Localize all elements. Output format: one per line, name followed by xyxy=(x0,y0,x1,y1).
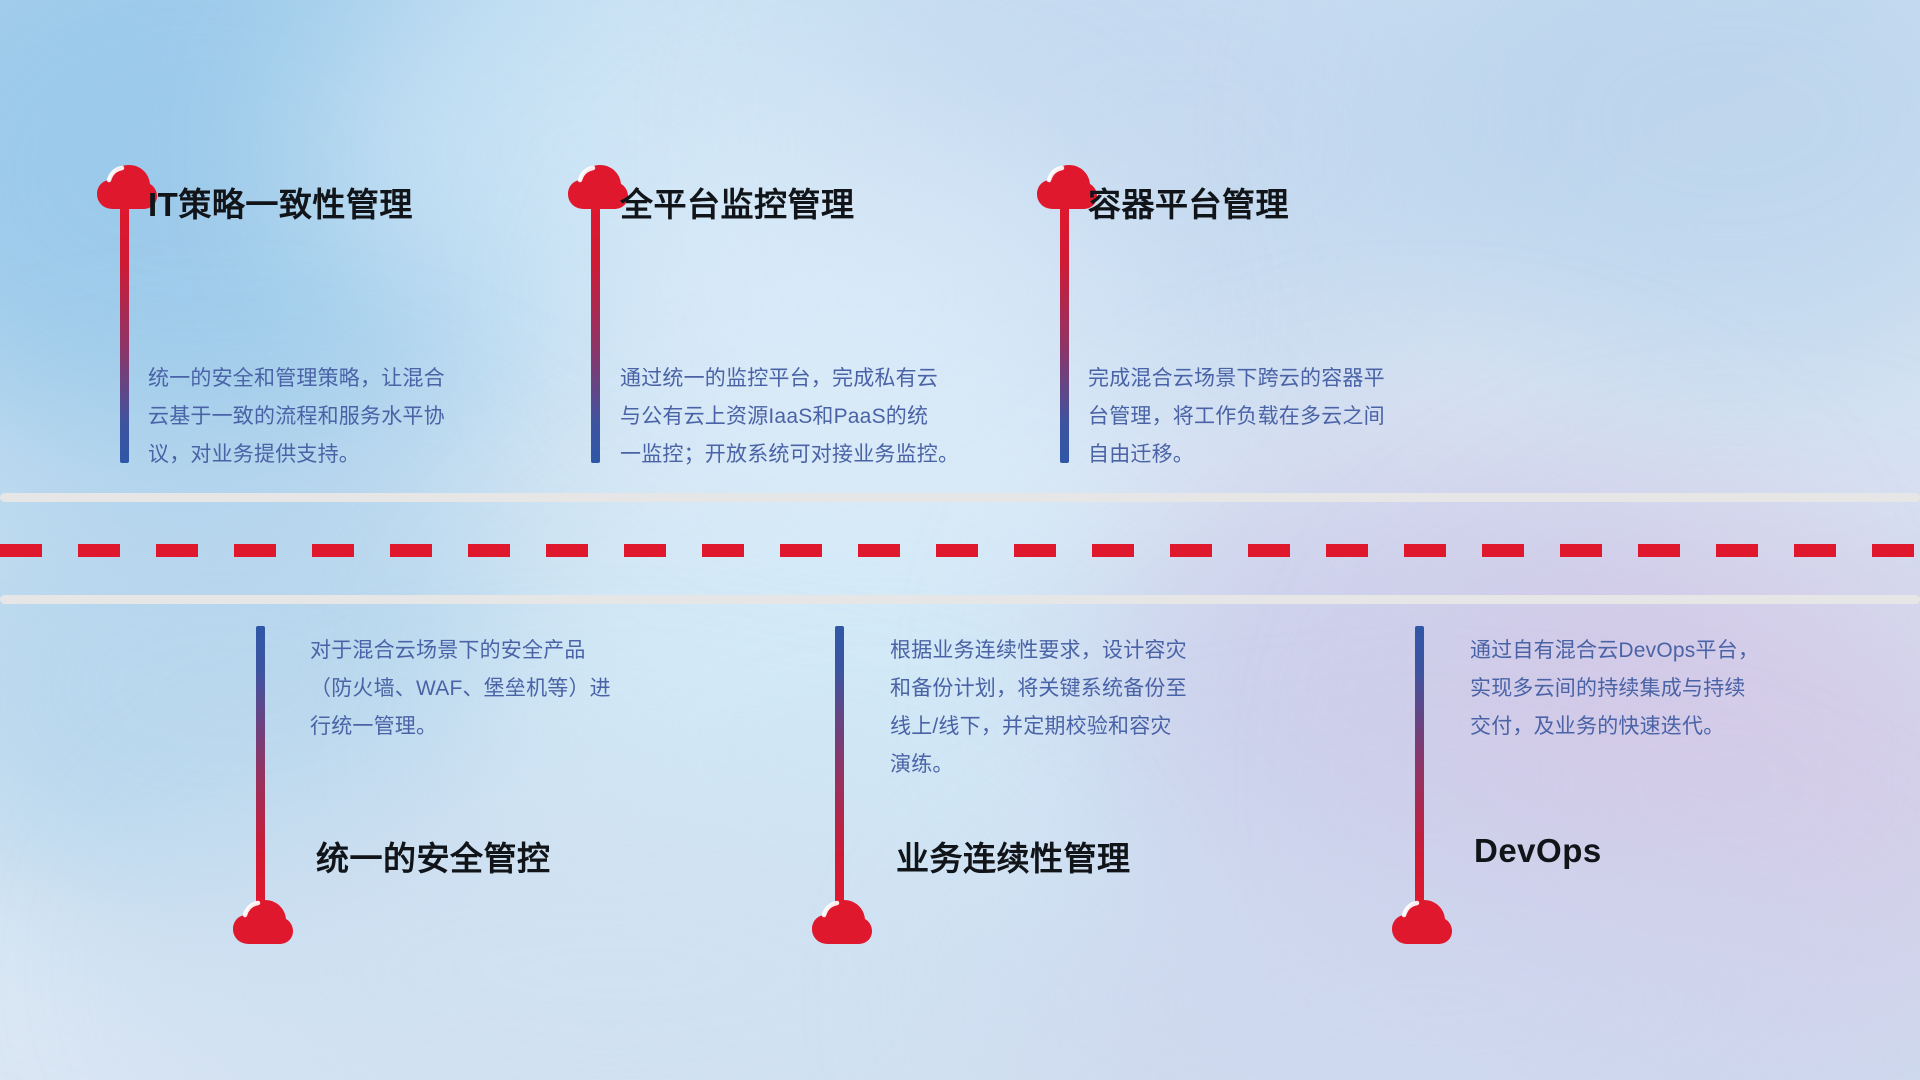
bottom-title-3: DevOps xyxy=(1474,832,1602,870)
top-title-2: 全平台监控管理 xyxy=(620,178,855,226)
top-title-3: 容器平台管理 xyxy=(1088,178,1289,226)
road-line-top xyxy=(0,493,1920,502)
top-desc-3: 完成混合云场景下跨云的容器平 台管理，将工作负载在多云之间 自由迁移。 xyxy=(1088,360,1385,474)
infographic-canvas: IT策略一致性管理 统一的安全和管理策略，让混合 云基于一致的流程和服务水平协 … xyxy=(0,0,1920,1080)
top-desc-1: 统一的安全和管理策略，让混合 云基于一致的流程和服务水平协 议，对业务提供支持。 xyxy=(148,360,445,474)
cloud-pin-icon xyxy=(232,898,294,946)
cloud-pin-icon xyxy=(1391,898,1453,946)
cloud-pin-icon xyxy=(811,898,873,946)
bottom-desc-1: 对于混合云场景下的安全产品 （防火墙、WAF、堡垒机等）进 行统一管理。 xyxy=(310,632,611,746)
road-dashed-center-line xyxy=(0,544,1920,557)
bottom-desc-3: 通过自有混合云DevOps平台， 实现多云间的持续集成与持续 交付，及业务的快速… xyxy=(1470,632,1759,746)
top-title-1: IT策略一致性管理 xyxy=(148,178,413,226)
bottom-title-1: 统一的安全管控 xyxy=(316,832,551,880)
top-desc-2: 通过统一的监控平台，完成私有云 与公有云上资源IaaS和PaaS的统 一监控；开… xyxy=(620,360,959,474)
bottom-desc-2: 根据业务连续性要求，设计容灾 和备份计划，将关键系统备份至 线上/线下，并定期校… xyxy=(890,632,1187,784)
road-line-bottom xyxy=(0,595,1920,604)
bottom-title-2: 业务连续性管理 xyxy=(896,832,1131,880)
